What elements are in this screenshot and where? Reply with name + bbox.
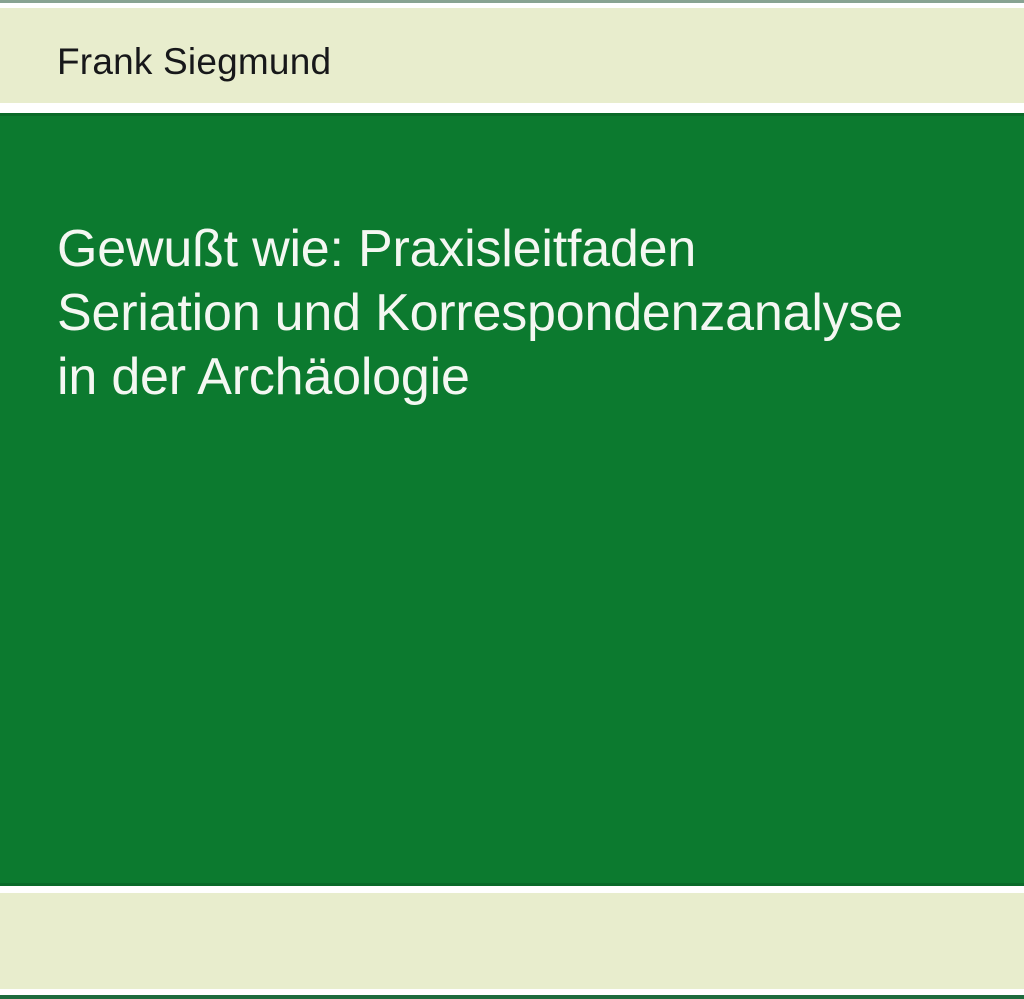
title-panel: Gewußt wie: Praxisleitfaden Seriation un… (0, 113, 1024, 886)
book-title: Gewußt wie: Praxisleitfaden Seriation un… (57, 217, 957, 409)
bottom-rule-divider (0, 995, 1024, 999)
author-name: Frank Siegmund (57, 40, 331, 84)
footer-band (0, 893, 1024, 989)
title-line-3: in der Archäologie (57, 345, 957, 409)
title-line-1: Gewußt wie: Praxisleitfaden (57, 217, 957, 281)
book-cover: Frank Siegmund Gewußt wie: Praxisleitfad… (0, 0, 1024, 999)
title-panel-top-edge (0, 113, 1024, 116)
title-panel-bottom-edge (0, 883, 1024, 886)
top-rule-divider (0, 0, 1024, 3)
author-band: Frank Siegmund (0, 8, 1024, 103)
title-line-2: Seriation und Korrespondenzanalyse (57, 281, 957, 345)
